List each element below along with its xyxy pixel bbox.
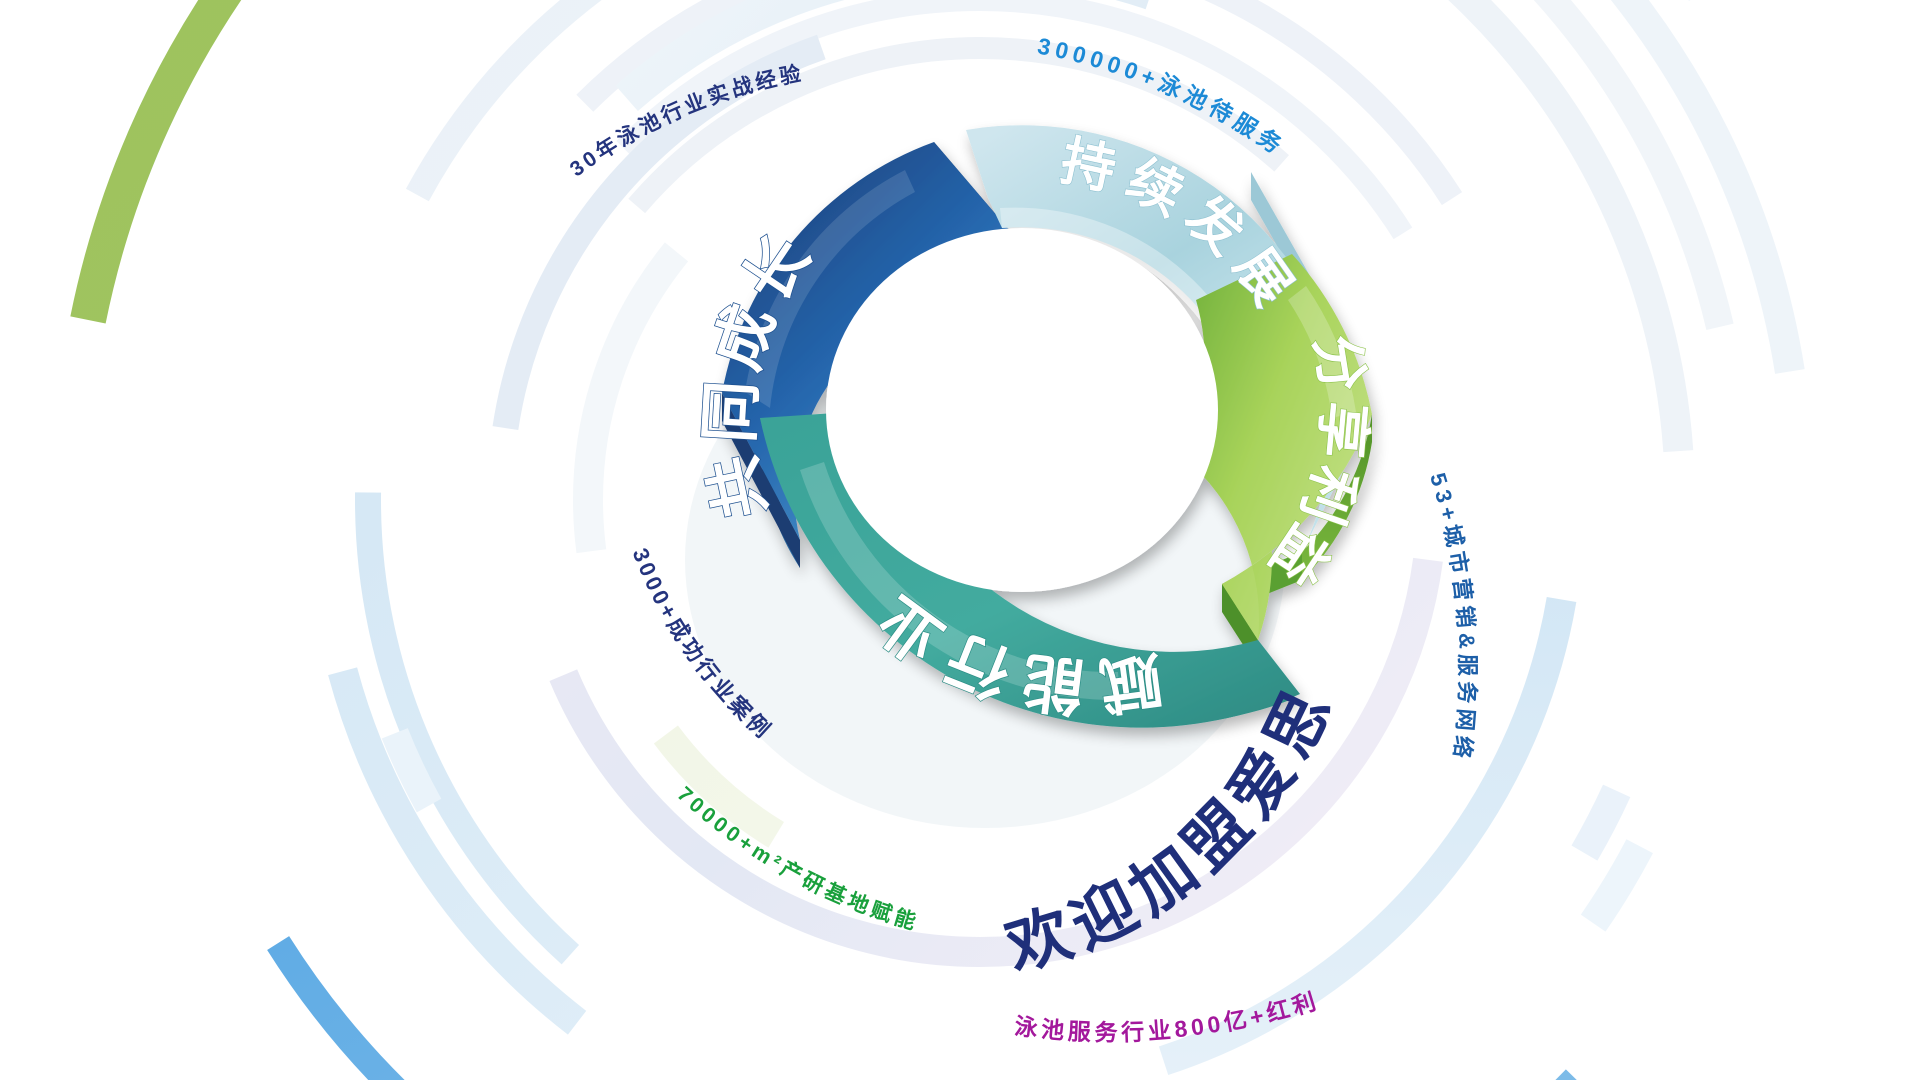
arc-label-cities: 53+城市营销&服务网络支持	[0, 0, 1480, 764]
arc-label-cases: 3000+成功行业案例	[628, 545, 778, 745]
infographic-canvas: 共同成长 持续发展 分享利益 赋能行业	[0, 0, 1920, 1080]
arc-label-layer: 30年泳池行业实战经验 300000+泳池待服务 53+城市营销&服务网络支持 …	[0, 0, 1920, 1080]
arc-label-market: 泳池服务行业800亿+红利	[1013, 987, 1322, 1045]
arc-label-pools: 300000+泳池待服务	[1035, 32, 1290, 160]
arc-label-base: 70000+m²产研基地赋能	[673, 783, 923, 936]
headline-text: 欢迎加盟爱思特	[0, 0, 1348, 984]
arc-label-experience: 30年泳池行业实战经验	[566, 61, 806, 182]
